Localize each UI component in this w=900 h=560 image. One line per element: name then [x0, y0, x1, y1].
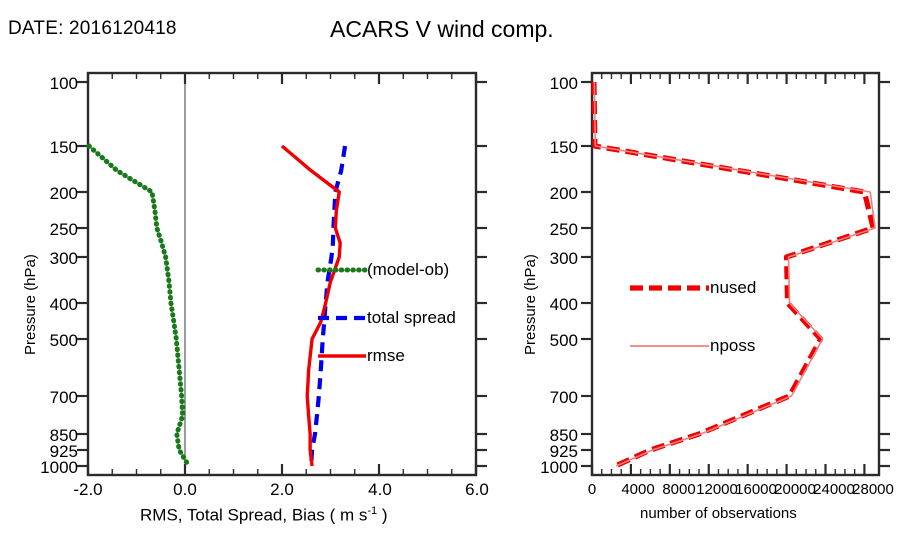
series-model-ob — [89, 146, 189, 466]
plot-canvas — [0, 0, 900, 560]
panel-observation-counts — [581, 73, 890, 475]
series-nused — [594, 82, 873, 466]
plot-frame — [88, 73, 476, 475]
plot-frame — [592, 73, 879, 475]
panel-statistics — [77, 73, 487, 475]
series-nposs — [594, 82, 875, 466]
series-rmse — [282, 146, 340, 466]
